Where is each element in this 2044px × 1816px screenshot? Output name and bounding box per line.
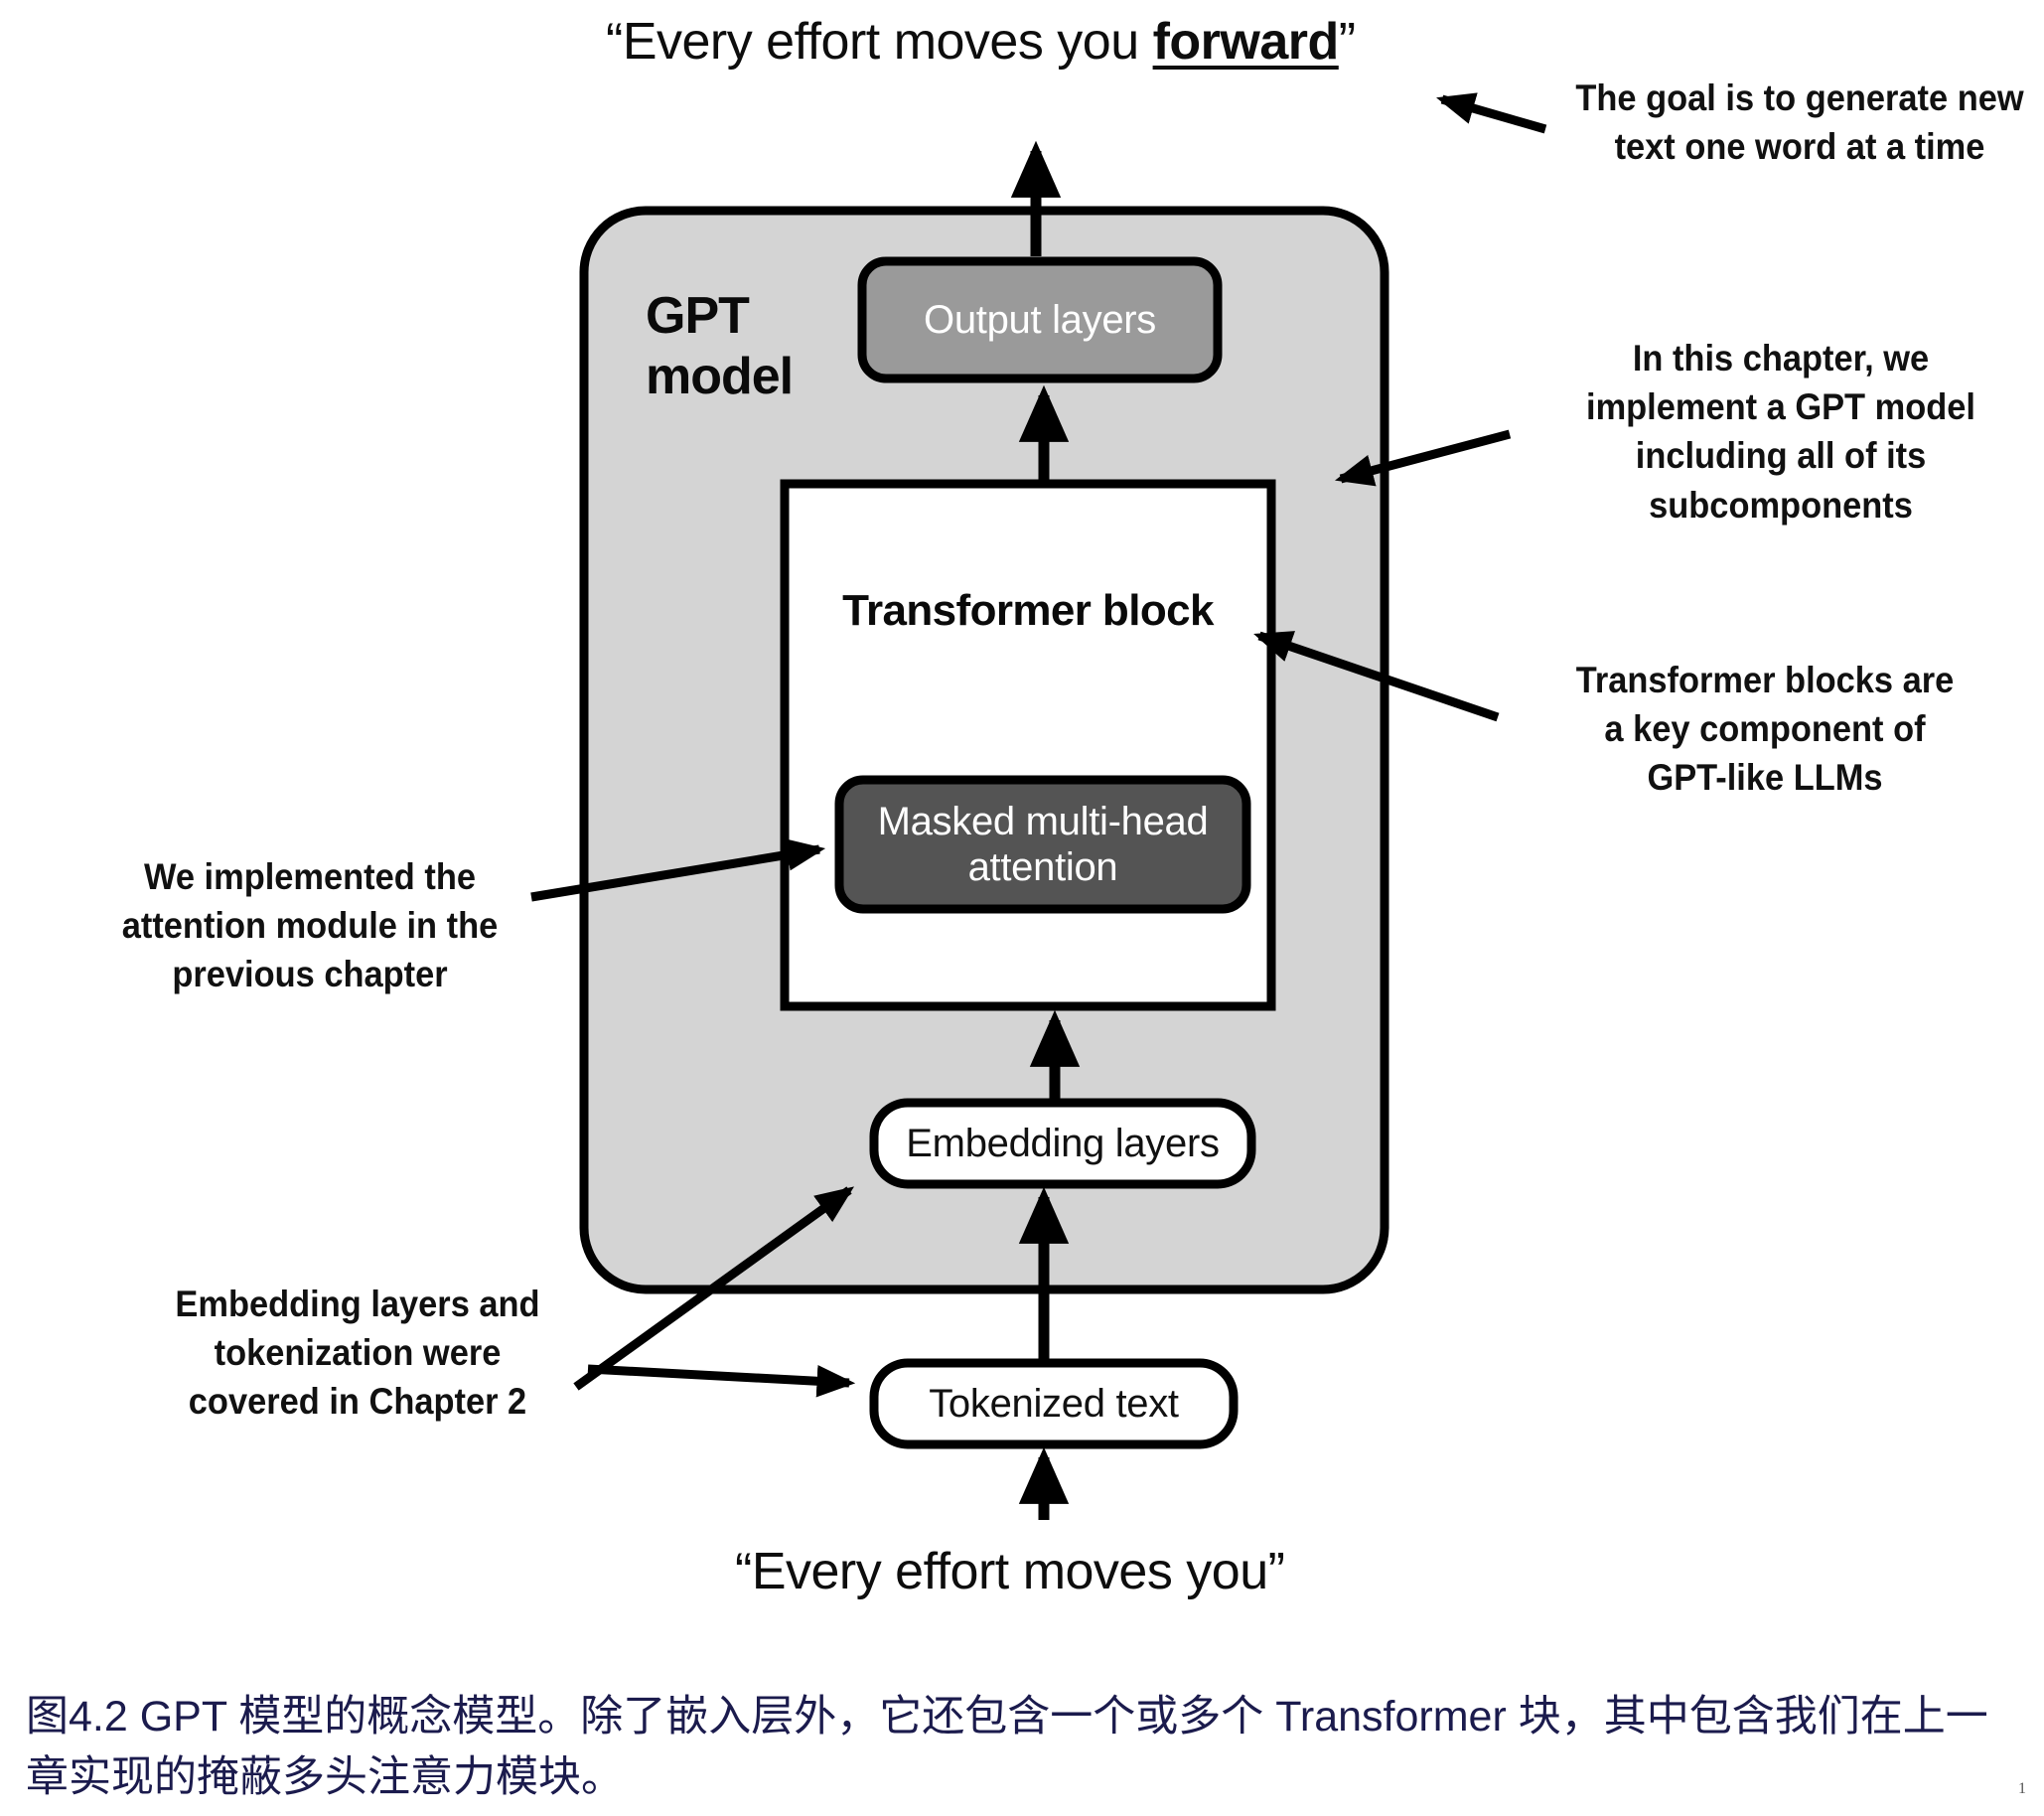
arrow-annotation-goal (1442, 99, 1545, 129)
annotation-embedding-chapter2: Embedding layers and tokenization were c… (154, 1280, 560, 1427)
arrow-annotation-tokenized (588, 1369, 849, 1383)
annotation-goal: The goal is to generate new text one wor… (1569, 74, 2031, 171)
output-layers-label: Output layers (862, 261, 1218, 378)
figure-gpt-model-overview: “Every effort moves you forward” “Every … (0, 0, 2044, 1816)
generated-output-text: “Every effort moves you forward” (606, 16, 1356, 68)
arrow-annotation-transformer-key (1259, 636, 1498, 717)
input-text: “Every effort moves you” (735, 1546, 1284, 1597)
arrow-annotation-chapter-scope (1341, 434, 1510, 479)
tokenized-text-label: Tokenized text (874, 1363, 1234, 1444)
generated-output-suffix: ” (1339, 13, 1356, 71)
annotation-chapter-scope: In this chapter, we implement a GPT mode… (1545, 334, 2016, 530)
page-number: 1 (2018, 1780, 2026, 1798)
transformer-block-label: Transformer block (785, 581, 1271, 641)
masked-attention-label: Masked multi-head attention (839, 780, 1246, 909)
embedding-layers-label: Embedding layers (874, 1103, 1251, 1184)
figure-caption: 图4.2 GPT 模型的概念模型。除了嵌入层外，它还包含一个或多个 Transf… (26, 1687, 2022, 1808)
transformer-block-box (785, 484, 1271, 1006)
annotation-transformer-key: Transformer blocks are a key component o… (1521, 656, 2010, 803)
arrow-annotation-attention (531, 849, 819, 897)
generated-output-prefix: “Every effort moves you (606, 13, 1153, 71)
arrow-annotation-embedding-up (576, 1190, 849, 1387)
generated-output-bold-word: forward (1153, 13, 1339, 71)
gpt-model-title: GPT model (646, 286, 793, 408)
annotation-attention-previous-chapter: We implemented the attention module in t… (97, 852, 522, 999)
